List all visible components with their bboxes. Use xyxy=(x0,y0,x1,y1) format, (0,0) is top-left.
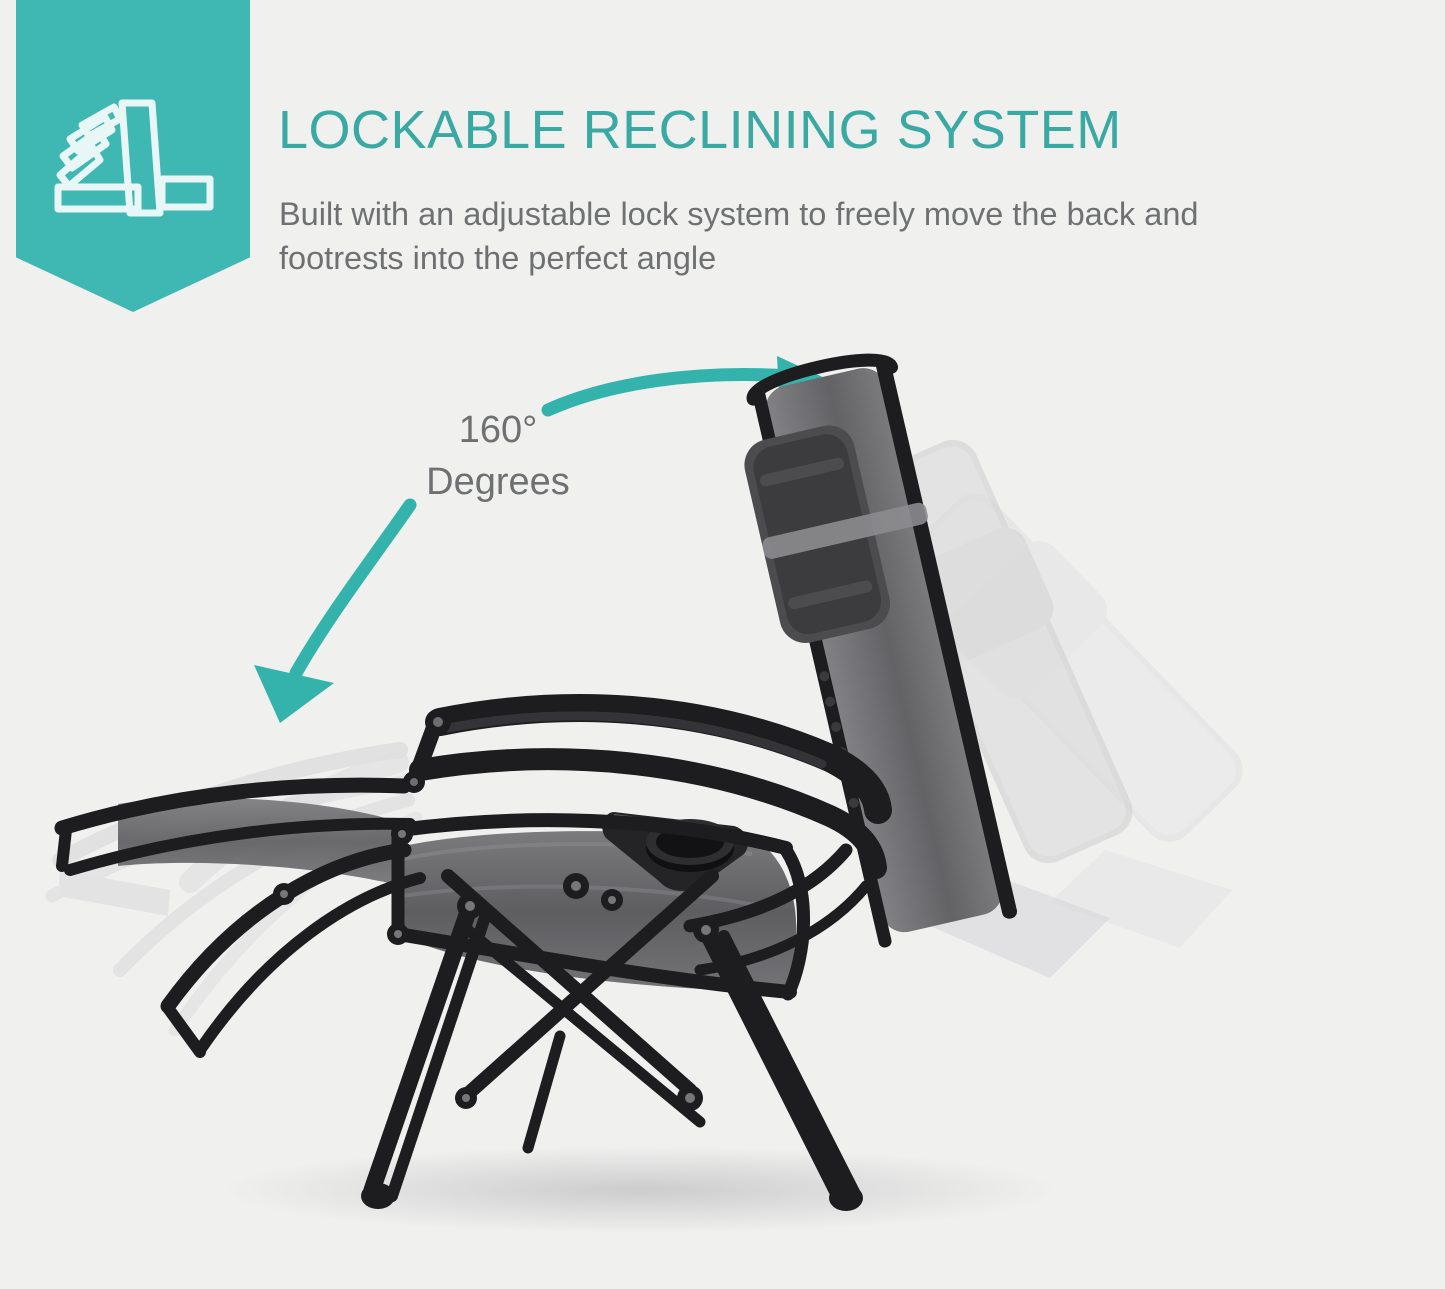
feature-subtitle-line-1: Built with an adjustable lock system to … xyxy=(279,196,1003,232)
zero-gravity-recliner-chair xyxy=(0,330,1445,1270)
recline-angle-icon xyxy=(42,95,224,225)
floor-shadow xyxy=(220,1146,1060,1234)
feature-subtitle: Built with an adjustable lock system to … xyxy=(279,192,1289,280)
chair-solid-position xyxy=(62,351,1020,1211)
feature-title: LOCKABLE RECLINING SYSTEM xyxy=(278,103,1122,158)
product-feature-infographic: LOCKABLE RECLINING SYSTEM Built with an … xyxy=(0,0,1445,1289)
feature-banner xyxy=(16,0,250,312)
